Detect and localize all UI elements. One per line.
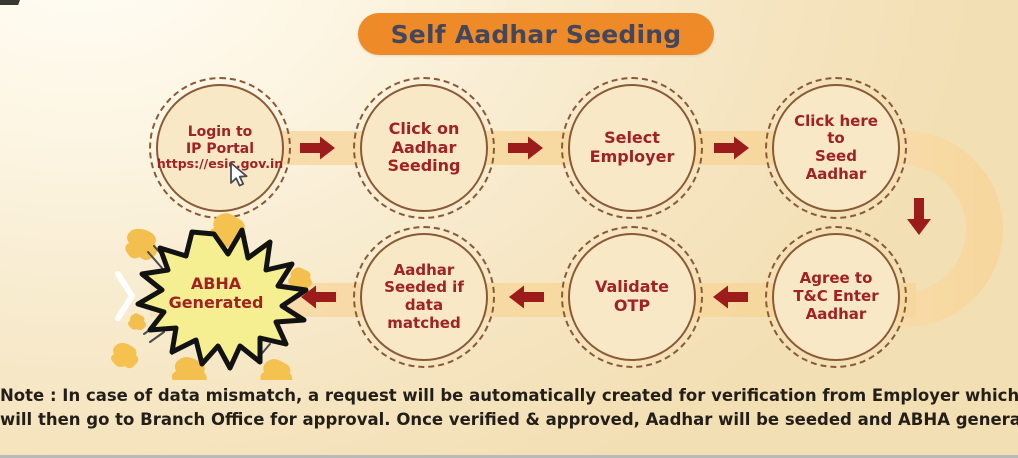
arrow-right-icon-3 <box>714 135 750 161</box>
flow-node-validate-otp-label: Validate OTP <box>589 278 675 316</box>
flow-node-seed-aadhar-label: Click here to Seed Aadhar <box>788 113 884 184</box>
page-title-text: Self Aadhar Seeding <box>391 20 682 49</box>
login-portal-url: https://esic.gov.in <box>157 157 283 172</box>
flow-node-click-aadhar-seeding[interactable]: Click on Aadhar Seeding <box>360 84 488 212</box>
abha-generated-burst: ABHA Generated <box>110 212 322 380</box>
cursor-pointer-icon <box>228 162 250 188</box>
login-label-main: Login to IP Portal <box>186 124 254 157</box>
arrow-left-icon-2 <box>508 284 544 310</box>
flow-node-validate-otp[interactable]: Validate OTP <box>568 233 696 361</box>
chevron-right-icon <box>118 274 132 318</box>
flow-node-select-employer[interactable]: Select Employer <box>568 84 696 212</box>
aadhar-seeding-infographic: Self Aadhar Seeding Login to IP Portal h… <box>0 0 1018 458</box>
starburst-icon <box>110 212 322 380</box>
flow-node-agree-tc-label: Agree to T&C Enter Aadhar <box>787 270 884 323</box>
flow-node-aadhar-seeded-if-data-matched[interactable]: Aadhar Seeded if data matched <box>360 233 488 361</box>
flow-node-login-label: Login to IP Portal https://esic.gov.in <box>151 108 289 189</box>
flow-node-data-matched-label: Aadhar Seeded if data matched <box>378 262 470 333</box>
flow-node-click-aadhar-label: Click on Aadhar Seeding <box>381 120 466 177</box>
flow-node-seed-aadhar[interactable]: Click here to Seed Aadhar <box>772 84 900 212</box>
flow-node-select-employer-label: Select Employer <box>584 129 681 167</box>
flow-node-login[interactable]: Login to IP Portal https://esic.gov.in <box>156 84 284 212</box>
arrow-down-icon <box>906 198 932 236</box>
note-line-2: will then go to Branch Office for approv… <box>0 408 1018 432</box>
arrow-right-icon-1 <box>300 135 336 161</box>
note-line-1: Note : In case of data mismatch, a reque… <box>0 384 1018 408</box>
note-block: Note : In case of data mismatch, a reque… <box>0 384 1018 432</box>
flow-node-agree-tc-enter-aadhar[interactable]: Agree to T&C Enter Aadhar <box>772 233 900 361</box>
page-title: Self Aadhar Seeding <box>358 13 714 55</box>
arrow-left-icon-1 <box>712 284 748 310</box>
arrow-right-icon-2 <box>508 135 544 161</box>
